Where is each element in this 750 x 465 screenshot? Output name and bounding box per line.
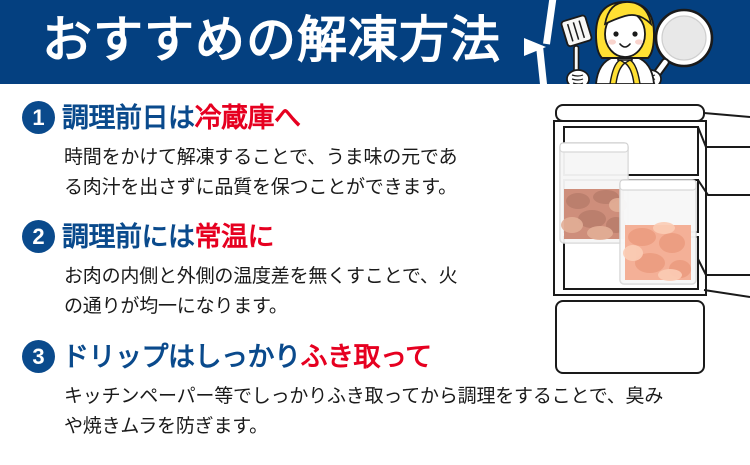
step-2-body-line-2: の通りが均一になります。 [64,292,457,322]
fridge-door-line-bottom [704,290,750,297]
step-2-heading-navy: 調理前には [62,220,195,254]
fridge-top-lid [556,105,704,121]
cook-woman-illustration [552,0,742,84]
step-2-body: お肉の内側と外側の温度差を無くすことで、火 の通りが均一になります。 [64,262,457,322]
step-item-2: 2調理前には常温に お肉の内側と外側の温度差を無くすことで、火 の通りが均一にな… [22,220,457,322]
step-3-body-line-2: や焼きムラを防ぎます。 [64,412,663,442]
meat-bag-dark [560,143,628,243]
fridge-lower-drawer [556,301,704,373]
step-1-heading: 1調理前日は冷蔵庫へ [22,101,457,137]
step-1-body-line-2: る肉汁を出さずに品質を保つことができます。 [64,173,457,203]
step-2-number-badge: 2 [22,220,55,253]
spatula-icon [561,15,593,84]
step-3-heading-red: ふき取って [301,340,432,374]
page-title: おすすめの解凍方法 [42,6,501,74]
ribbon-arrow-icon [524,38,546,56]
infographic-page: おすすめの解凍方法 [0,0,750,465]
step-3-body: キッチンペーパー等でしっかりふき取ってから調理をすることで、臭み や焼きムラを防… [64,382,663,442]
step-2-heading: 2調理前には常温に [22,220,457,256]
header-banner: おすすめの解凍方法 [0,0,750,84]
step-1-heading-navy: 調理前日は [62,101,195,135]
fridge-door-line-top [704,113,750,117]
step-3-number-badge: 3 [22,340,55,373]
step-item-1: 1調理前日は冷蔵庫へ 時間をかけて解凍することで、うま味の元であ る肉汁を出さず… [22,101,457,203]
step-3-body-line-1: キッチンペーパー等でしっかりふき取ってから調理をすることで、臭み [64,382,663,412]
woman-figure [596,2,654,84]
meat-bag-chicken [620,180,696,284]
step-1-body-line-1: 時間をかけて解凍することで、うま味の元であ [64,143,457,173]
refrigerator-illustration [530,85,750,385]
step-1-number-badge: 1 [22,101,55,134]
step-1-body: 時間をかけて解凍することで、うま味の元であ る肉汁を出さずに品質を保つことができ… [64,143,457,203]
step-2-heading-red: 常温に [195,220,275,254]
step-1-heading-red: 冷蔵庫へ [195,101,301,135]
step-2-body-line-1: お肉の内側と外側の温度差を無くすことで、火 [64,262,457,292]
step-3-heading-navy: ドリップはしっかり [62,340,301,374]
